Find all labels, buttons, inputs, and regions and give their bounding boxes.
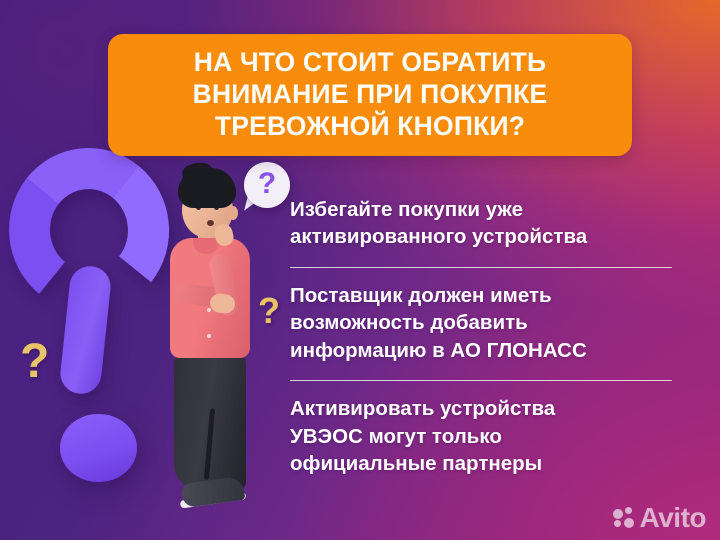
question-mark-dot	[60, 414, 137, 482]
thinking-person-illustration	[160, 168, 286, 513]
small-gold-question-mark-icon: ?	[20, 338, 49, 386]
list-divider-2	[290, 380, 672, 382]
list-divider-1	[290, 267, 672, 269]
speech-bubble-question-icon: ?	[244, 162, 290, 208]
banner-canvas: ? ? ? НА ЧТО СТОИТ ОБРАТИТЬ ВНИМАНИЕ ПРИ…	[0, 0, 720, 540]
speech-bubble: ?	[244, 162, 290, 208]
person-mouth	[207, 220, 214, 226]
avito-brand-label: Avito	[640, 504, 706, 532]
person-shirt-button-1	[207, 308, 211, 312]
title-card: НА ЧТО СТОИТ ОБРАТИТЬ ВНИМАНИЕ ПРИ ПОКУП…	[108, 34, 632, 156]
avito-watermark: Avito	[613, 504, 706, 532]
avito-logo-icon	[613, 507, 635, 529]
person-ear	[228, 206, 238, 220]
tips-list: Избегайте покупки уже активированного ус…	[290, 196, 672, 477]
list-item: Активировать устройства УВЭОС могут толь…	[290, 395, 672, 477]
list-item: Избегайте покупки уже активированного ус…	[290, 196, 672, 251]
page-title: НА ЧТО СТОИТ ОБРАТИТЬ ВНИМАНИЕ ПРИ ПОКУП…	[193, 46, 548, 143]
person-shirt-button-2	[207, 334, 211, 338]
list-item: Поставщик должен иметь возможность добав…	[290, 282, 672, 364]
